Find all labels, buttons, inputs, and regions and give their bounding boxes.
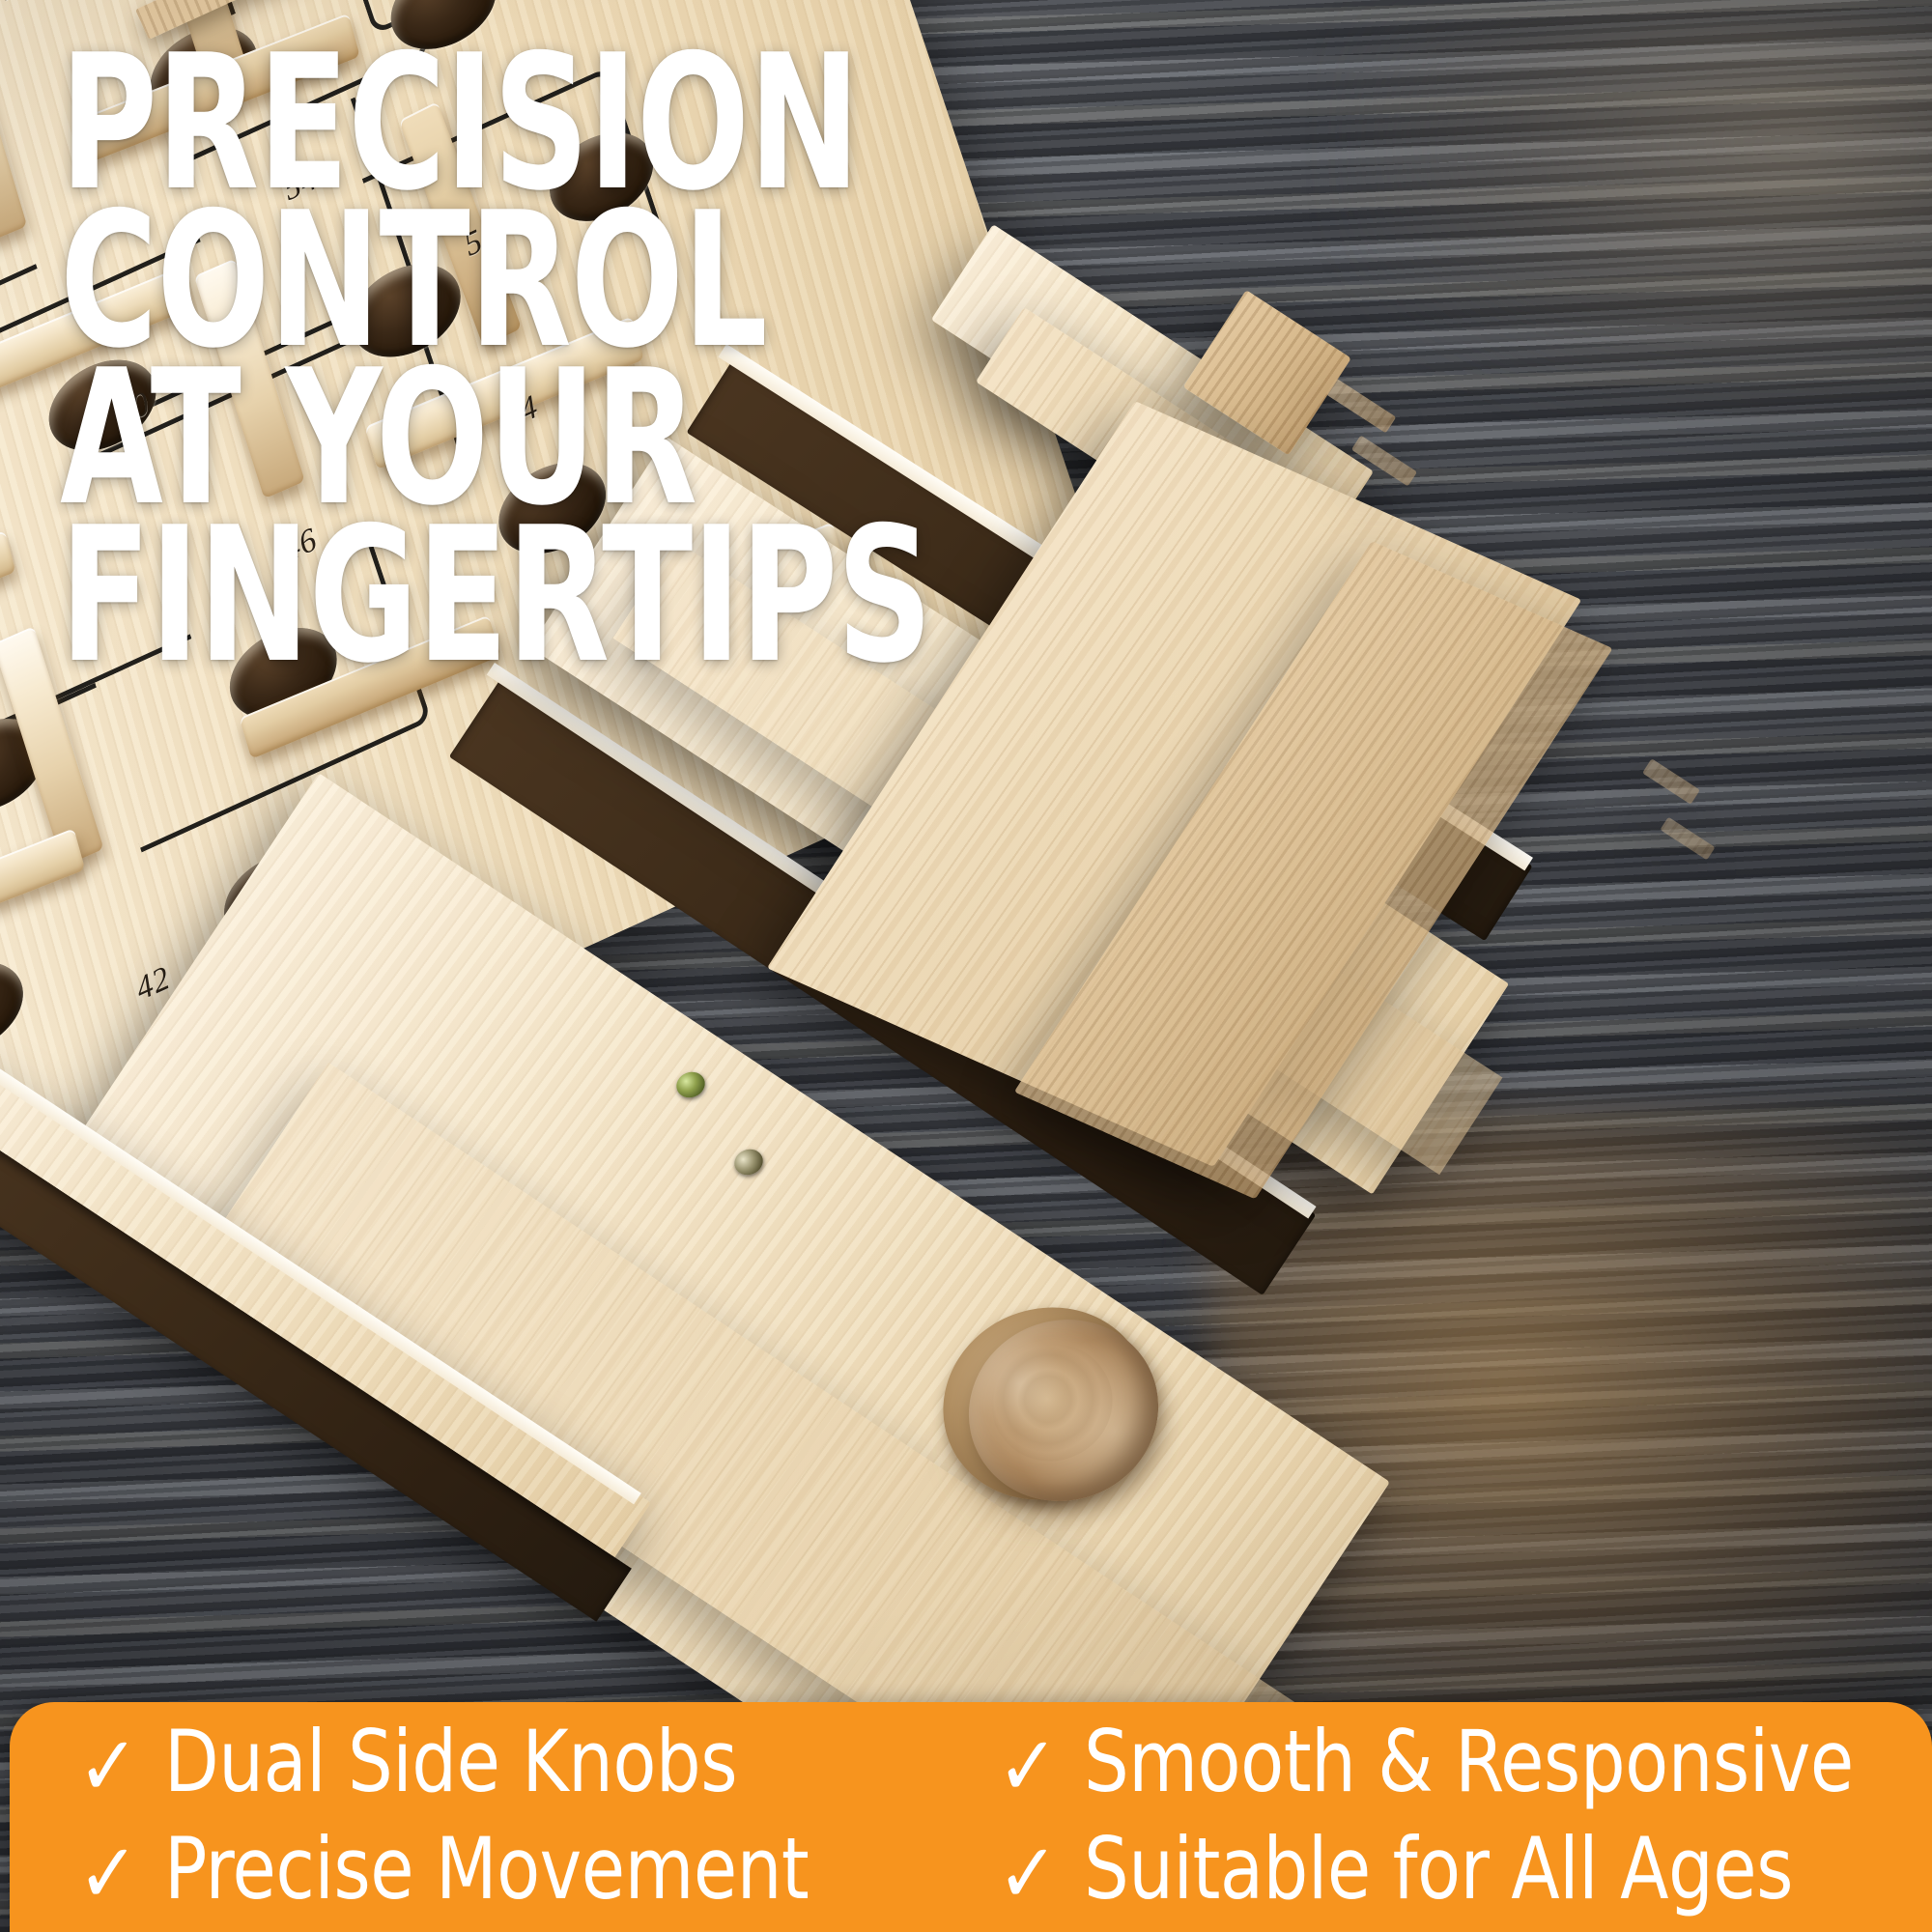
feature-label: Suitable for All Ages	[1084, 1819, 1793, 1918]
feature-column-left: ✓ Dual Side Knobs ✓ Precise Movement	[10, 1712, 976, 1918]
box-corner-joint-mark	[1642, 758, 1700, 805]
feature-column-right: ✓ Smooth & Responsive ✓ Suitable for All…	[976, 1712, 1932, 1918]
feature-label: Smooth & Responsive	[1084, 1712, 1854, 1811]
product-photo-wooden-labyrinth-game: START 23 24 55 56 57 58 21 54 28 27 50 5…	[0, 0, 1932, 1932]
maze-hole	[0, 945, 35, 1069]
box-corner-joint-mark	[1660, 816, 1715, 860]
feature-banner: ✓ Dual Side Knobs ✓ Precise Movement ✓ S…	[10, 1702, 1932, 1932]
checkmark-icon: ✓	[77, 1837, 138, 1912]
feature-item-precise-movement: ✓ Precise Movement	[73, 1819, 976, 1918]
product-marketing-image: START 23 24 55 56 57 58 21 54 28 27 50 5…	[0, 0, 1932, 1932]
feature-item-suitable-all-ages: ✓ Suitable for All Ages	[993, 1819, 1932, 1918]
checkmark-icon: ✓	[77, 1730, 138, 1804]
feature-label: Dual Side Knobs	[164, 1712, 737, 1811]
feature-item-smooth-responsive: ✓ Smooth & Responsive	[993, 1712, 1932, 1811]
feature-label: Precise Movement	[164, 1819, 809, 1918]
checkmark-icon: ✓	[997, 1837, 1058, 1912]
feature-item-dual-side-knobs: ✓ Dual Side Knobs	[73, 1712, 976, 1811]
box-corner-joint-mark	[1326, 378, 1397, 433]
checkmark-icon: ✓	[997, 1730, 1058, 1804]
